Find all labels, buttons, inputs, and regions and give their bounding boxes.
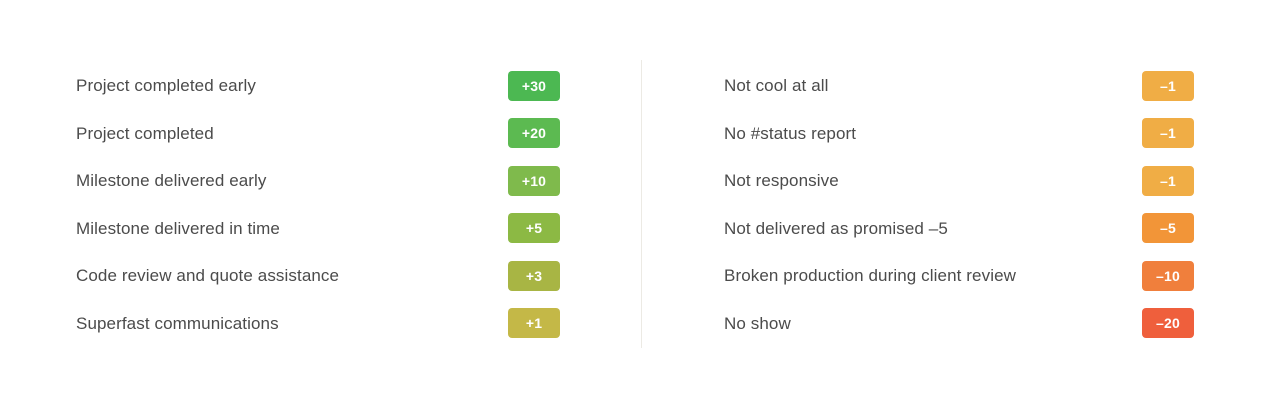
rule-row: Code review and quote assistance+3 xyxy=(76,252,560,300)
rule-row: Broken production during client review–1… xyxy=(724,252,1194,300)
rule-label: No #status report xyxy=(724,125,856,142)
score-badge: +3 xyxy=(508,261,560,291)
rule-label: Milestone delivered in time xyxy=(76,220,280,237)
rule-label: No show xyxy=(724,315,791,332)
scoring-rules-board: Project completed early+30Project comple… xyxy=(0,0,1286,408)
score-badge: –5 xyxy=(1142,213,1194,243)
rule-row: Project completed early+30 xyxy=(76,62,560,110)
positive-rules-column: Project completed early+30Project comple… xyxy=(76,62,560,347)
score-badge: +5 xyxy=(508,213,560,243)
rule-row: Superfast communications+1 xyxy=(76,300,560,348)
rule-label: Not responsive xyxy=(724,172,839,189)
score-badge: –1 xyxy=(1142,71,1194,101)
score-badge: –20 xyxy=(1142,308,1194,338)
score-badge: –10 xyxy=(1142,261,1194,291)
rule-label: Code review and quote assistance xyxy=(76,267,339,284)
score-badge: +10 xyxy=(508,166,560,196)
rule-label: Project completed xyxy=(76,125,214,142)
score-badge: –1 xyxy=(1142,166,1194,196)
rule-label: Not cool at all xyxy=(724,77,829,94)
rule-row: No show–20 xyxy=(724,300,1194,348)
rule-label: Project completed early xyxy=(76,77,256,94)
score-badge: +1 xyxy=(508,308,560,338)
rule-row: Milestone delivered early+10 xyxy=(76,157,560,205)
rule-row: Project completed+20 xyxy=(76,110,560,158)
rule-row: Not delivered as promised –5–5 xyxy=(724,205,1194,253)
rule-label: Broken production during client review xyxy=(724,267,1016,284)
score-badge: +30 xyxy=(508,71,560,101)
score-badge: –1 xyxy=(1142,118,1194,148)
rule-label: Not delivered as promised –5 xyxy=(724,220,948,237)
column-divider xyxy=(641,60,642,348)
negative-rules-column: Not cool at all–1No #status report–1Not … xyxy=(724,62,1194,347)
rule-row: Milestone delivered in time+5 xyxy=(76,205,560,253)
rule-row: No #status report–1 xyxy=(724,110,1194,158)
rule-row: Not responsive–1 xyxy=(724,157,1194,205)
score-badge: +20 xyxy=(508,118,560,148)
rule-label: Milestone delivered early xyxy=(76,172,267,189)
rule-label: Superfast communications xyxy=(76,315,279,332)
rule-row: Not cool at all–1 xyxy=(724,62,1194,110)
